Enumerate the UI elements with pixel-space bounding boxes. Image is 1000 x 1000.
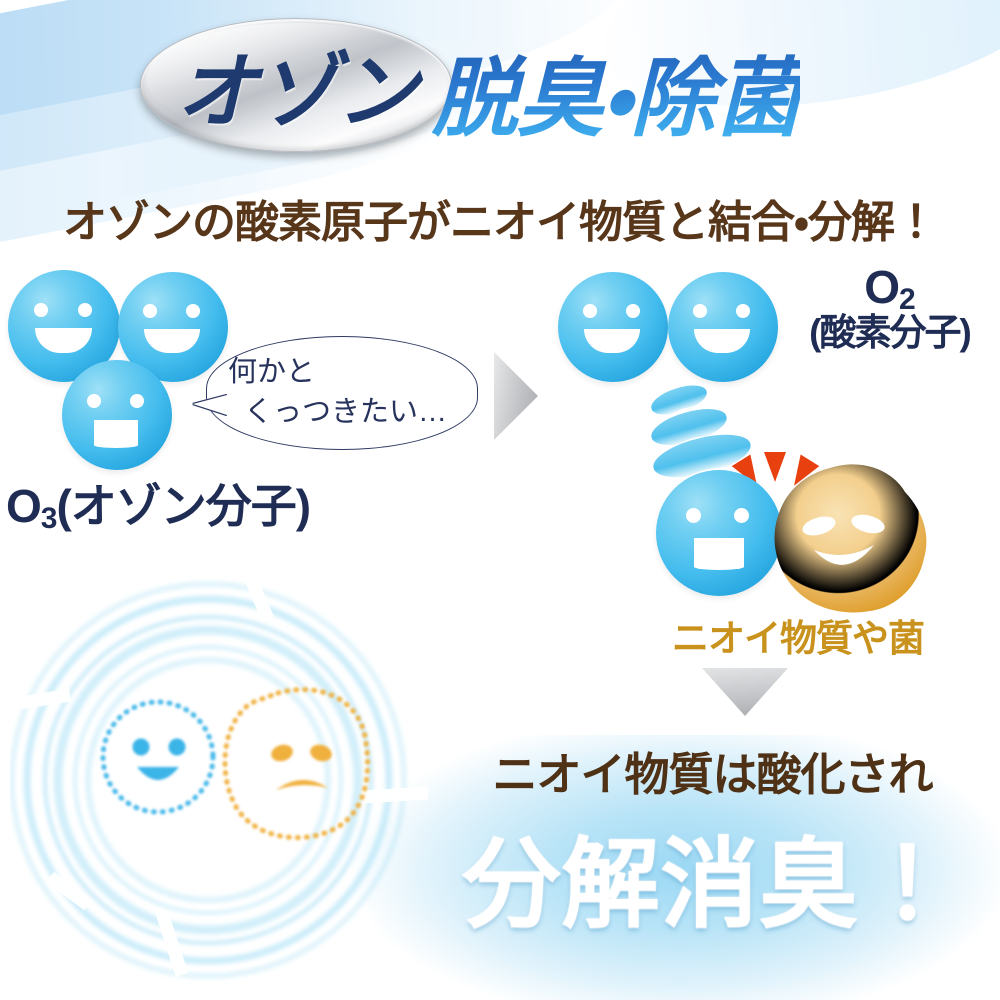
mouth-smile [144,329,200,353]
germ-label: ニオイ物質や菌 [672,608,924,662]
o3-label: O3(オゾン分子) [6,470,310,536]
eye-left [693,304,707,318]
o2-subscript: 2 [899,283,915,316]
dissolving-happy-face [103,702,213,812]
ozone-atom-sphere-3 [62,360,172,470]
dissolve-rings-graphic [10,575,430,990]
speech-line-1: 何かと [228,356,315,388]
speech-line-2: くっつきたい… [228,392,466,432]
eye-right [626,304,640,318]
headline-text: 脱臭・除菌 [432,28,800,153]
badge-title-text: オゾン [150,32,442,136]
mouth-smile [584,329,640,353]
happy-face-icon [34,303,48,317]
conclusion-line-top: ニオイ物質は酸化され [440,738,985,803]
o2-formula-letter: O [864,261,899,313]
down-arrow-icon [702,668,788,716]
eye-left [87,394,101,408]
germ-blob [770,462,932,614]
oxygen-atom-sphere-3 [656,470,782,596]
right-arrow-icon [494,352,538,440]
eye-right [78,303,92,317]
mouth-open [94,420,138,448]
eye-left [583,304,597,318]
eye-right [130,394,144,408]
eye-left [686,508,701,523]
eye-left [143,304,157,318]
o2-paren-text: (酸素分子) [782,314,997,351]
rings-svg [10,575,430,990]
o3-formula-letter: O [6,480,41,532]
o3-subscript: 3 [41,502,57,535]
mouth-smile [694,329,750,353]
o2-label: O2 (酸素分子) [782,264,997,351]
mouth-open [694,538,744,570]
eye-right [736,304,750,318]
eye-right [734,508,749,523]
germ-svg [770,462,932,614]
speech-bubble-tail [193,395,227,415]
conclusion-headline: 分解消臭！ [420,805,1000,947]
oxygen-atom-sphere-2 [668,272,778,382]
subtitle-text: オゾンの酸素原子がニオイ物質と結合・分解！ [28,186,972,250]
eye-right [186,304,200,318]
dissolving-sad-face [225,690,368,838]
speech-bubble-text: 何かと くっつきたい… [228,352,466,432]
o3-paren-text: (オゾン分子) [56,480,310,532]
oxygen-atom-sphere-1 [558,272,668,382]
infographic-canvas: オゾン 脱臭・除菌 オゾンの酸素原子がニオイ物質と結合・分解！ O3(オゾン分子… [0,0,1000,1000]
mouth-smile [35,328,92,353]
